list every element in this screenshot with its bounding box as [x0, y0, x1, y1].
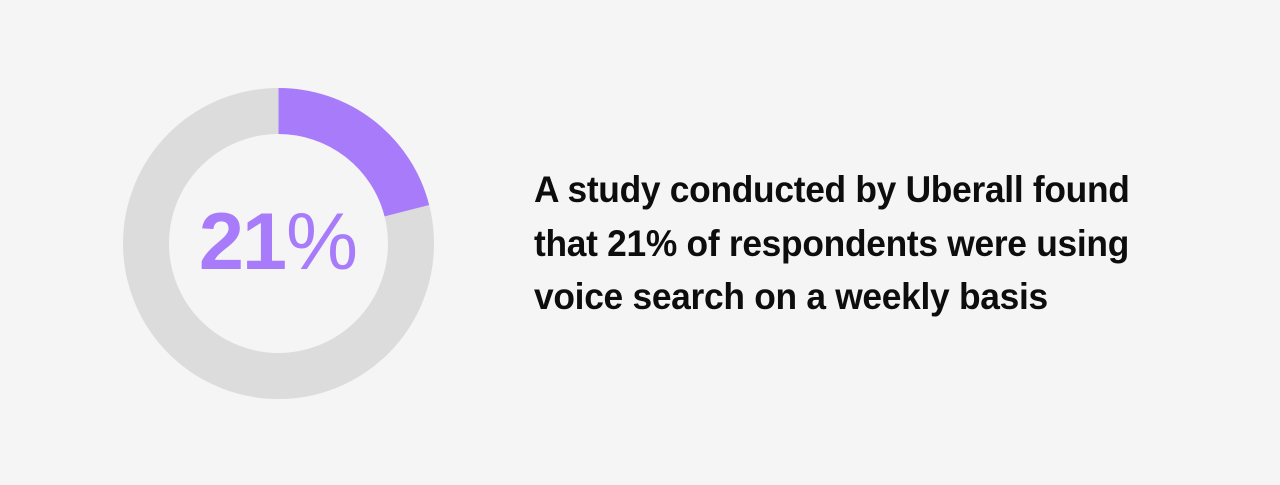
voice-search-statistic-infographic: 21% A study conducted by Uberall found t… — [0, 0, 1280, 485]
donut-chart-svg — [123, 88, 434, 399]
statement-text-block: A study conducted by Uberall found that … — [534, 163, 1206, 324]
statement-line-3: voice search on a weekly basis — [534, 270, 1176, 324]
statement-line-1: A study conducted by Uberall found — [534, 163, 1176, 217]
statement-line-2: that 21% of respondents were using — [534, 217, 1176, 271]
donut-chart: 21% — [123, 88, 434, 399]
